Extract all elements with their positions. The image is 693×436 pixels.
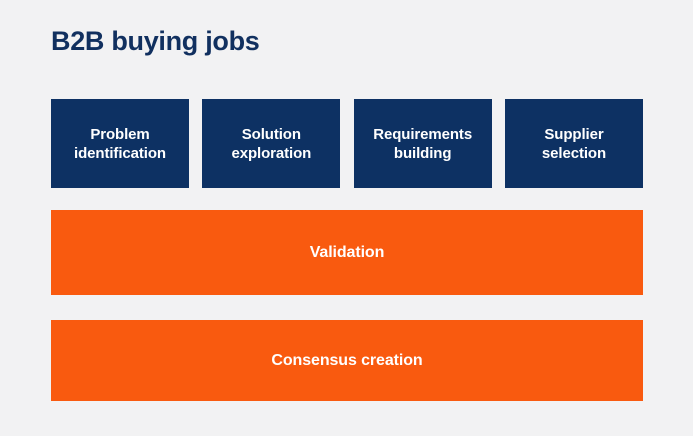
- b2b-buying-jobs-diagram: B2B buying jobs Problem identification S…: [0, 0, 693, 436]
- band-consensus-creation: Consensus creation: [51, 320, 643, 401]
- band-label: Validation: [310, 244, 385, 262]
- page-title: B2B buying jobs: [51, 24, 260, 58]
- band-validation: Validation: [51, 210, 643, 295]
- stage-box-requirements-building: Requirements building: [354, 99, 492, 188]
- band-label: Consensus creation: [271, 352, 422, 370]
- stage-label: Solution exploration: [231, 125, 311, 163]
- stage-label: Requirements building: [373, 125, 472, 163]
- stage-label: Supplier selection: [542, 125, 606, 163]
- stage-box-problem-identification: Problem identification: [51, 99, 189, 188]
- stage-box-solution-exploration: Solution exploration: [202, 99, 340, 188]
- stage-box-supplier-selection: Supplier selection: [505, 99, 643, 188]
- stage-row: Problem identification Solution explorat…: [51, 99, 643, 188]
- stage-label: Problem identification: [74, 125, 166, 163]
